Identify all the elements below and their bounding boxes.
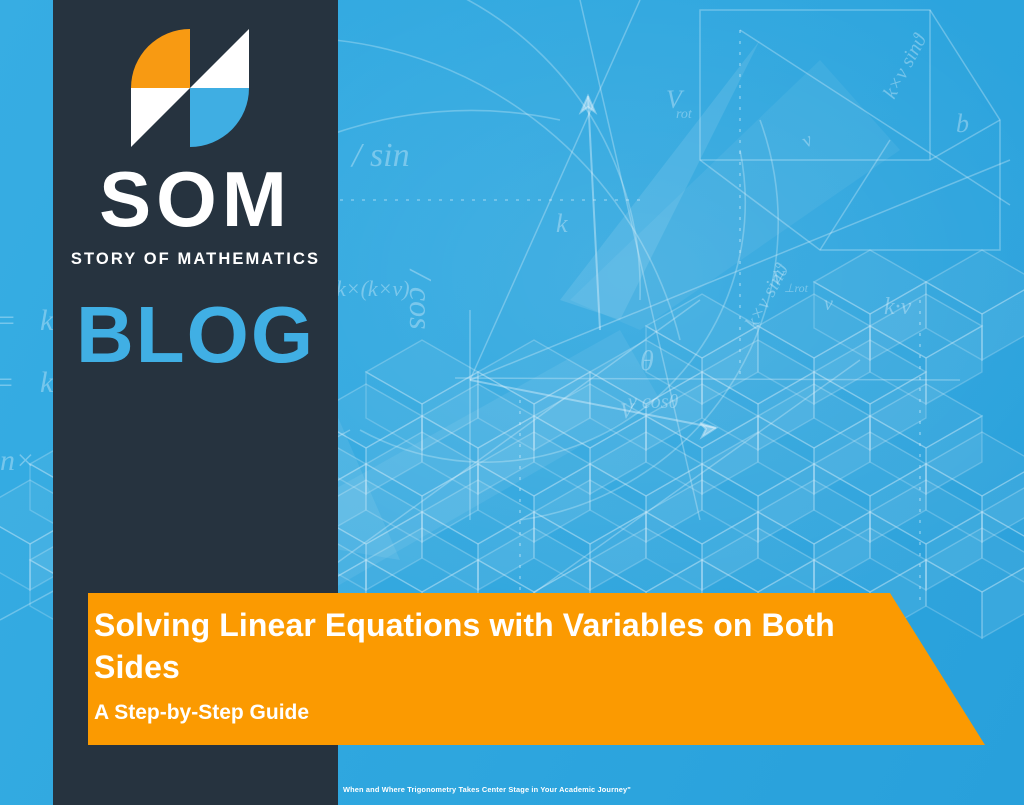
brand-section-label: BLOG <box>53 295 338 375</box>
som-quadrant-logo-icon <box>131 29 249 147</box>
svg-text:⊥rot: ⊥rot <box>784 281 809 295</box>
svg-text:θ: θ <box>640 346 654 377</box>
svg-text:k·v: k·v <box>884 294 912 320</box>
logo-quadrant-top-right-icon <box>190 29 249 88</box>
svg-text:k: k <box>556 209 568 238</box>
svg-text:k: k <box>40 304 54 337</box>
logo-quadrant-bottom-right-icon <box>190 88 249 147</box>
brand-wordmark: SOM <box>53 160 338 238</box>
svg-text:v cosθ: v cosθ <box>628 391 679 413</box>
svg-text:=: = <box>0 366 14 399</box>
page-subtitle: A Step-by-Step Guide <box>94 699 794 727</box>
blog-title-slide: / sin / cos k×(k×v) V rot k V ⊥rot v k·v… <box>0 0 1024 805</box>
svg-text:n×: n× <box>0 444 35 477</box>
svg-text:=: = <box>0 304 16 337</box>
brand-tagline: STORY OF MATHEMATICS <box>53 251 338 268</box>
svg-text:/ sin: / sin <box>350 137 410 174</box>
svg-text:rot: rot <box>676 107 693 122</box>
svg-text:v: v <box>824 293 833 315</box>
page-title: Solving Linear Equations with Variables … <box>94 604 894 688</box>
svg-text:k×v sinϑ: k×v sinϑ <box>879 30 932 103</box>
svg-text:k: k <box>40 366 54 399</box>
logo-quadrant-top-left-icon <box>131 29 190 88</box>
footer-caption: When and Where Trigonometry Takes Center… <box>343 786 631 793</box>
svg-text:b: b <box>956 109 969 138</box>
logo-quadrant-bottom-left-icon <box>131 88 190 147</box>
svg-text:k×(k×v): k×(k×v) <box>336 276 410 301</box>
